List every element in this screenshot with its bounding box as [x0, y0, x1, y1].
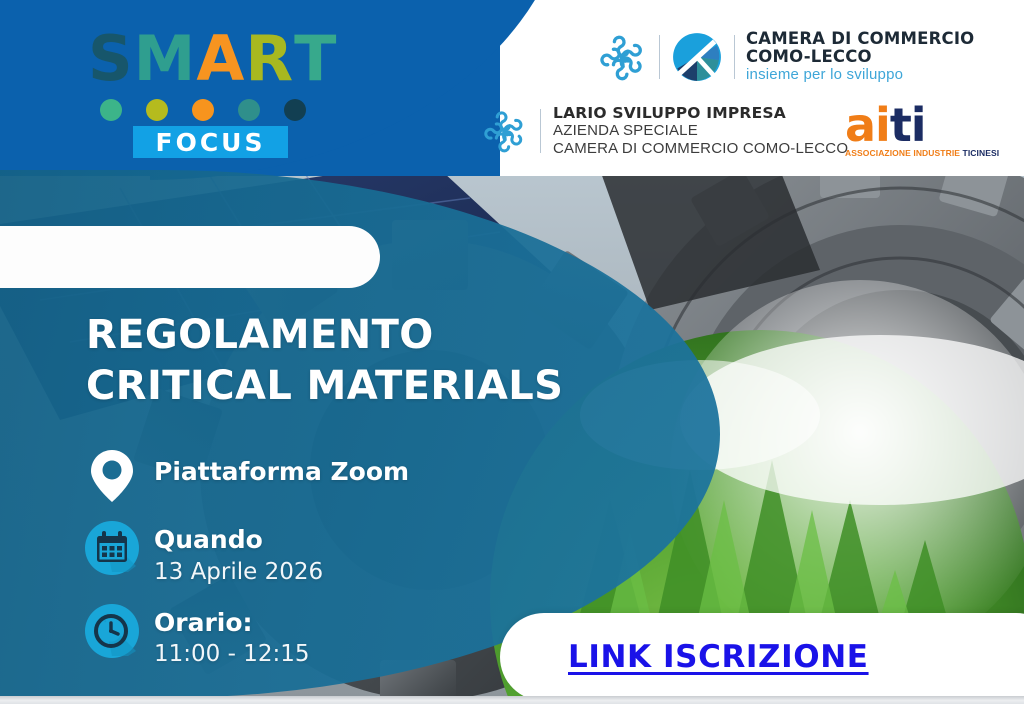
smart-letter-r: R [245, 28, 294, 90]
event-details-list: Piattaforma Zoom [84, 448, 409, 685]
title-line-1: REGOLAMENTO [86, 310, 563, 361]
lario-sviluppo-logo: LARIO SVILUPPO IMPRESA AZIENDA SPECIALE … [484, 104, 848, 158]
smart-wordmark: S M A R T [88, 28, 337, 90]
aiti-logo: aiti ASSOCIAZIONE INDUSTRIE TICINESI [845, 104, 999, 158]
smart-letter-a: A [196, 28, 245, 90]
camera-commercio-emblem-icon [671, 31, 723, 83]
detail-row-date: Quando 13 Aprile 2026 [84, 520, 409, 587]
dot-2 [146, 99, 168, 121]
cdc-line-1: CAMERA DI COMMERCIO [746, 30, 974, 48]
cdc-tagline: insieme per lo sviluppo [746, 67, 974, 84]
bottom-strip [0, 696, 1024, 704]
smart-dots-row [100, 99, 306, 121]
date-label: Quando [154, 526, 323, 555]
focus-badge: FOCUS [133, 126, 288, 158]
clock-icon [84, 603, 140, 659]
date-value: 13 Aprile 2026 [154, 558, 323, 587]
page-title: REGOLAMENTO CRITICAL MATERIALS [86, 310, 563, 412]
divider-2 [734, 35, 735, 79]
time-label: Orario: [154, 609, 310, 638]
link-iscrizione[interactable]: LINK ISCRIZIONE [568, 639, 869, 675]
lario-line-1: LARIO SVILUPPO IMPRESA [553, 104, 848, 122]
cdc-line-2: COMO-LECCO [746, 48, 974, 66]
dot-4 [238, 99, 260, 121]
event-flyer: S M A R T FOCUS [0, 0, 1024, 704]
calendar-icon [84, 520, 140, 576]
camera-commercio-logo: CAMERA DI COMMERCIO COMO-LECCO insieme p… [600, 30, 974, 84]
dot-5 [284, 99, 306, 121]
registration-link-pill[interactable]: LINK ISCRIZIONE [500, 613, 1024, 701]
divider-1 [659, 35, 660, 79]
lario-text: LARIO SVILUPPO IMPRESA AZIENDA SPECIALE … [553, 104, 848, 158]
aiti-wordmark: aiti [845, 104, 999, 146]
white-accent-pill [0, 226, 380, 288]
time-value: 11:00 - 12:15 [154, 640, 310, 669]
title-line-2: CRITICAL MATERIALS [86, 361, 563, 412]
location-pin-icon [84, 448, 140, 504]
detail-row-platform: Piattaforma Zoom [84, 448, 409, 504]
platform-label: Piattaforma Zoom [154, 458, 409, 487]
aiti-subtitle: ASSOCIAZIONE INDUSTRIE TICINESI [845, 148, 999, 158]
camera-commercio-text: CAMERA DI COMMERCIO COMO-LECCO insieme p… [746, 30, 974, 84]
swirl-mark-icon [484, 109, 528, 153]
aiti-word-navy: ti [890, 98, 926, 152]
aiti-sub-navy: TICINESI [963, 148, 1000, 158]
detail-text-platform: Piattaforma Zoom [154, 448, 409, 487]
detail-text-date: Quando 13 Aprile 2026 [154, 520, 323, 587]
dot-3 [192, 99, 214, 121]
focus-label: FOCUS [156, 128, 266, 157]
detail-text-time: Orario: 11:00 - 12:15 [154, 603, 310, 670]
smart-letter-m: M [134, 28, 197, 90]
lario-line-2: AZIENDA SPECIALE [553, 122, 848, 140]
smart-letter-t: T [294, 28, 337, 90]
lario-line-3: CAMERA DI COMMERCIO COMO-LECCO [553, 140, 848, 158]
detail-row-time: Orario: 11:00 - 12:15 [84, 603, 409, 670]
aiti-sub-orange: ASSOCIAZIONE INDUSTRIE [845, 148, 960, 158]
aiti-word-orange: ai [845, 98, 890, 152]
divider-3 [540, 109, 541, 153]
swirl-mark-icon [600, 33, 648, 81]
smart-letter-s: S [88, 28, 134, 90]
dot-1 [100, 99, 122, 121]
